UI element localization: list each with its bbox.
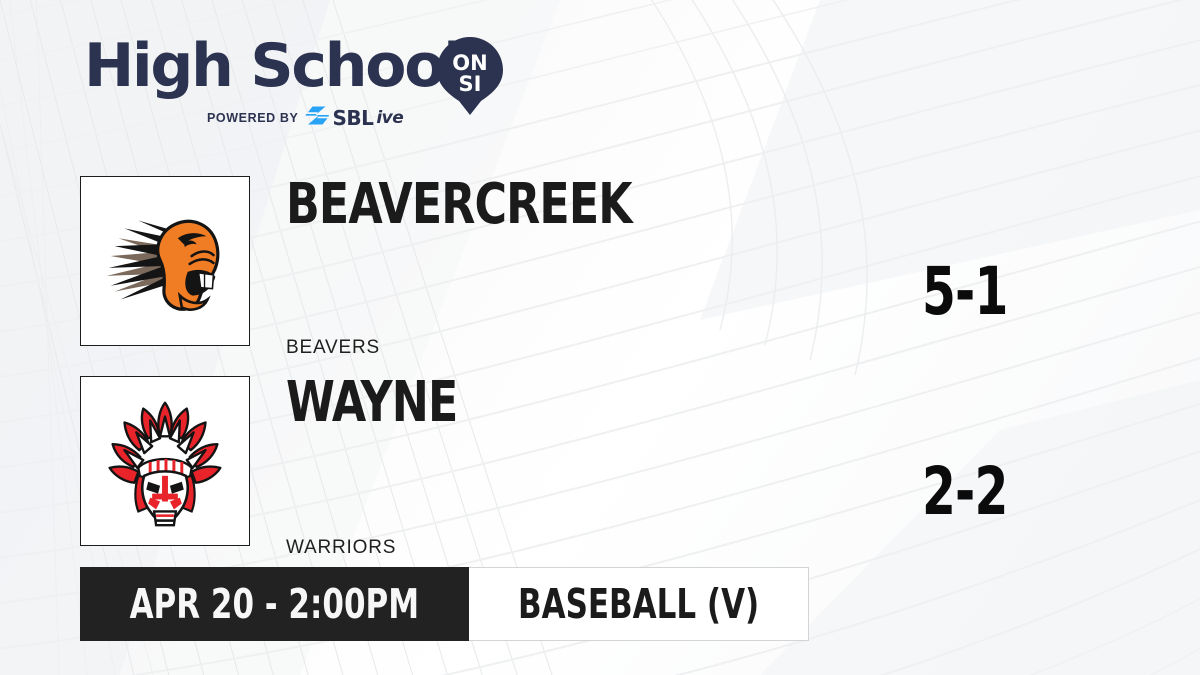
game-datetime: APR 20 - 2:00PM xyxy=(130,580,419,628)
game-datetime-panel: APR 20 - 2:00PM xyxy=(80,567,469,641)
team-logo-box xyxy=(80,376,250,546)
sblive-wordmark: SBL xyxy=(332,106,373,130)
svg-text:SI: SI xyxy=(459,72,482,96)
powered-by-lockup: POWERED BY SBL ive xyxy=(207,109,403,127)
sblive-logo: SBL ive xyxy=(305,106,403,130)
team-record: 2-2 xyxy=(922,459,1008,525)
game-sport: BASEBALL (V) xyxy=(518,580,759,628)
game-info-bar: APR 20 - 2:00PM BASEBALL (V) xyxy=(80,567,809,641)
warrior-chief-logo xyxy=(81,377,249,545)
team-name: BEAVERCREEK xyxy=(286,177,632,233)
onsi-pin-icon: ON SI xyxy=(437,37,503,115)
team-mascot: BEAVERS xyxy=(286,337,380,359)
sblive-wordmark-suffix: ive xyxy=(376,108,403,128)
team-mascot: WARRIORS xyxy=(286,537,396,559)
powered-by-label: POWERED BY xyxy=(207,111,298,125)
team-logo-box xyxy=(80,176,250,346)
team-name: WAYNE xyxy=(286,375,457,431)
sblive-bolt-icon xyxy=(305,106,329,130)
matchup-graphic: High School POWERED BY SBL ive ON SI xyxy=(0,0,1200,675)
beaver-head-logo xyxy=(81,177,249,345)
team-record: 5-1 xyxy=(922,259,1008,325)
game-sport-panel: BASEBALL (V) xyxy=(469,567,809,641)
